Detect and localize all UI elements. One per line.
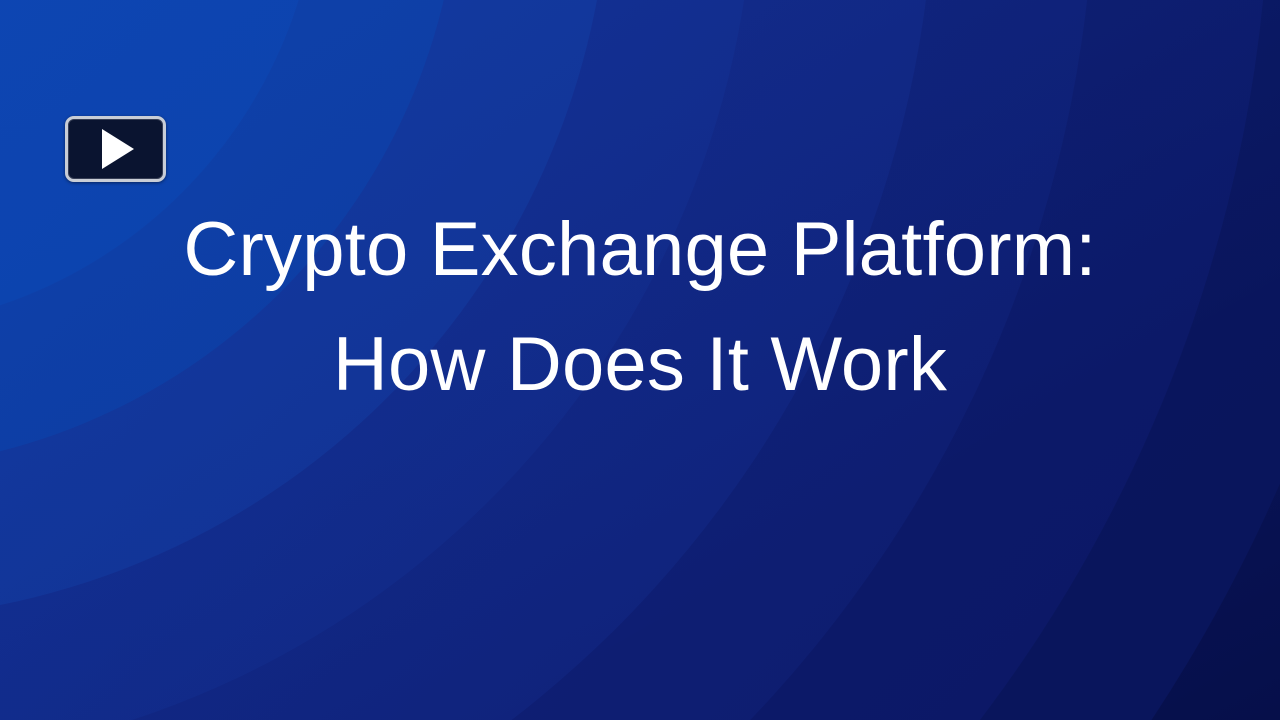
page-title: Crypto Exchange Platform: How Does It Wo… [0,192,1280,422]
title-line-1: Crypto Exchange Platform: [0,192,1280,307]
title-line-2: How Does It Work [0,307,1280,422]
title-slide: Crypto Exchange Platform: How Does It Wo… [0,0,1280,720]
play-triangle-icon [102,129,134,169]
play-button[interactable] [65,116,166,182]
